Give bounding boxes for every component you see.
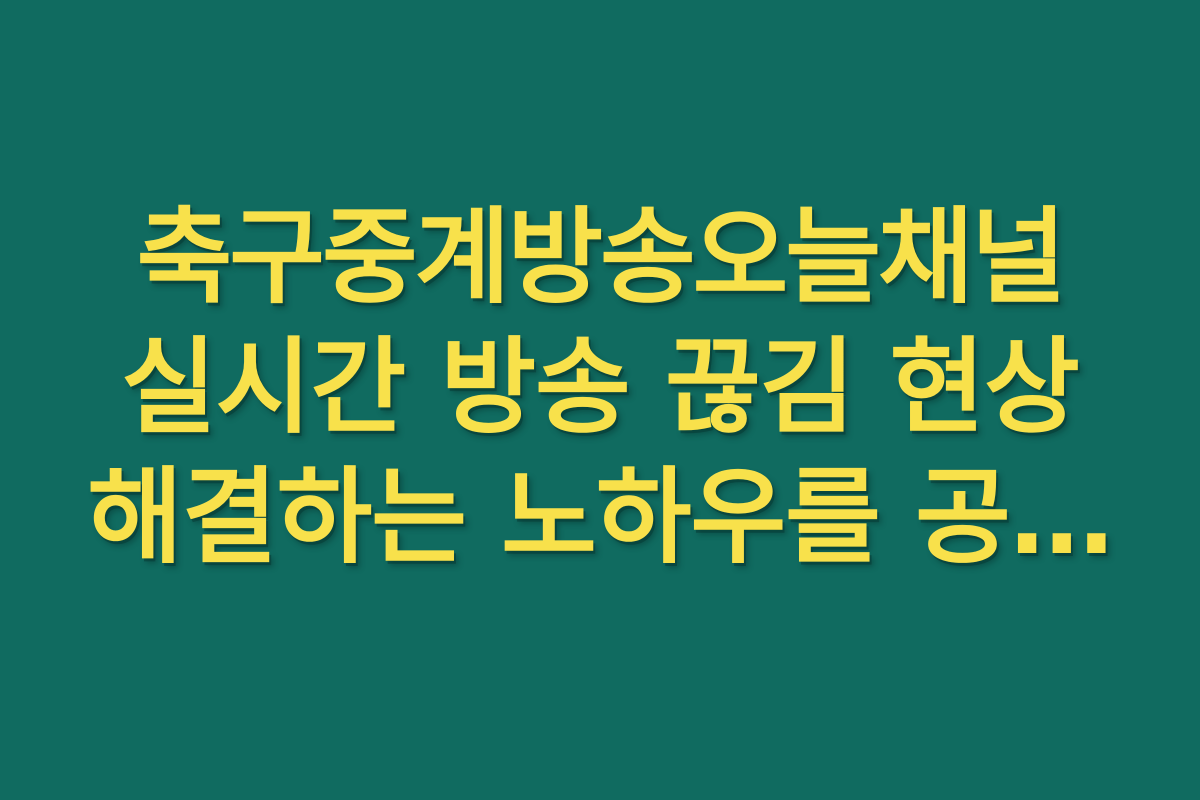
title-line-2: 실시간 방송 끊김 현상 bbox=[80, 322, 1120, 452]
thumbnail-card: 축구중계방송오늘채널 실시간 방송 끊김 현상 해결하는 노하우를 공… bbox=[0, 0, 1200, 800]
title-block: 축구중계방송오늘채널 실시간 방송 끊김 현상 해결하는 노하우를 공… bbox=[80, 192, 1120, 582]
title-line-3: 해결하는 노하우를 공… bbox=[80, 452, 1120, 582]
title-line-1: 축구중계방송오늘채널 bbox=[80, 192, 1120, 322]
